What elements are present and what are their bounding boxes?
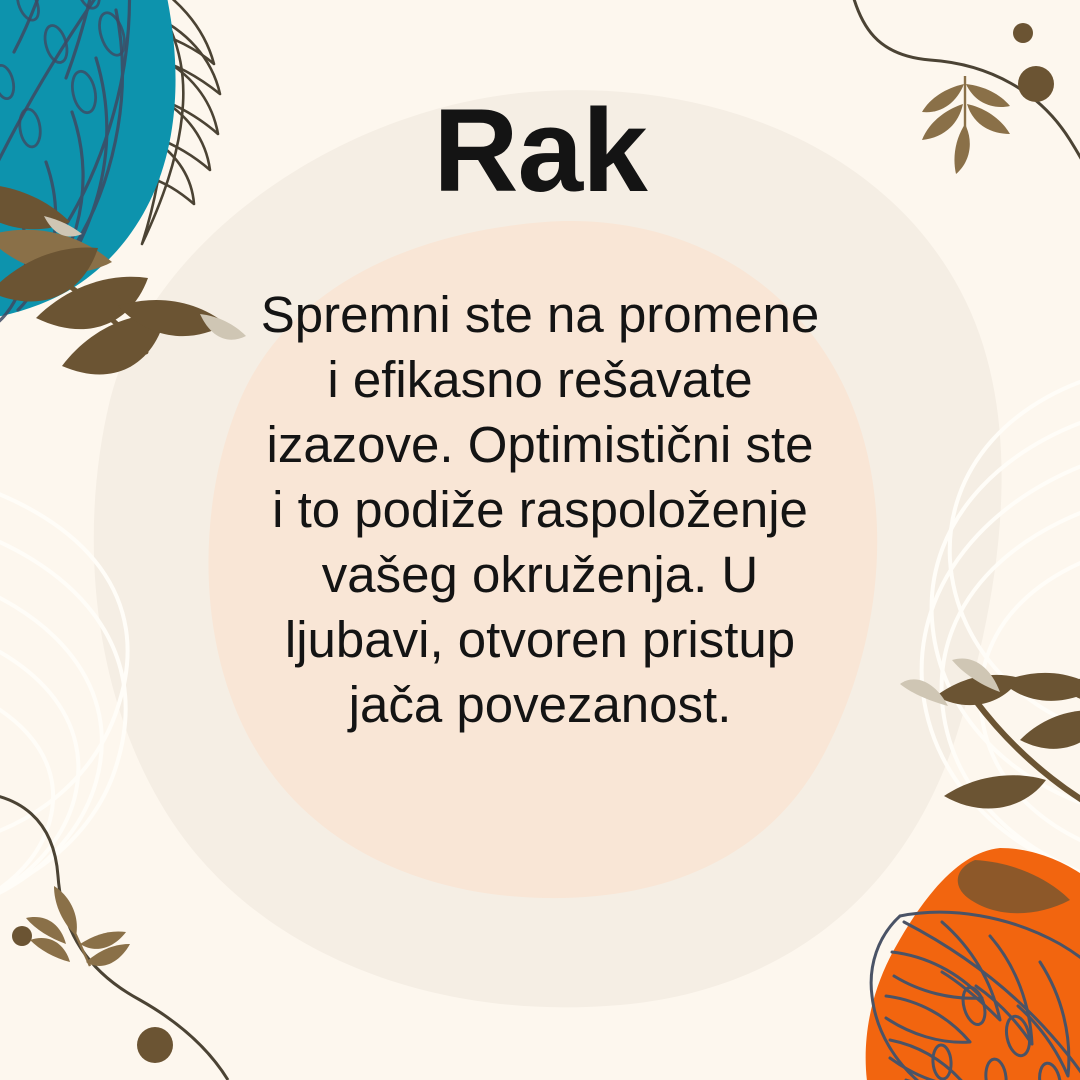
horoscope-body-text: Spremni ste na promene i efikasno rešava…: [255, 282, 825, 737]
page-title: Rak: [0, 92, 1080, 210]
horoscope-poster: Rak Spremni ste na promene i efikasno re…: [0, 0, 1080, 1080]
